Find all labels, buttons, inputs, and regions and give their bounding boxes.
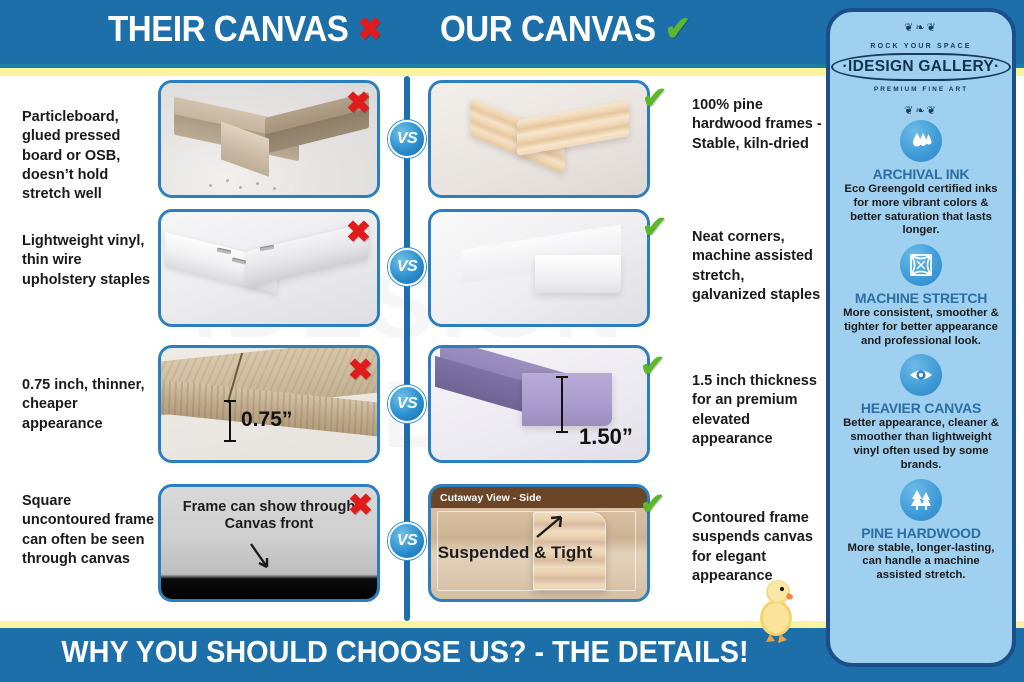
row-3-left-label: 0.75 inch, thinner, cheaper appearance: [22, 376, 157, 434]
cutaway-view-label-text: Cutaway View - Side: [431, 492, 541, 504]
logo-flourish-bottom-icon: ❦❧❦: [837, 104, 1005, 117]
our-canvas-header: OUR CANVAS ✔: [440, 8, 691, 50]
neat-machine-stretched-corner-photo: [431, 212, 647, 324]
duckling-mascot: [752, 572, 800, 644]
feature-pine-hardwood-desc: More stable, longer-lasting, can handle …: [839, 542, 1003, 583]
row-1-right-card: [428, 80, 650, 198]
vs-badge-row-1: VS: [388, 120, 426, 158]
row-3-left-measure-bar: [229, 400, 231, 442]
osb-board-thickness-photo: [161, 348, 377, 460]
row-4-left-x-icon: ✖: [348, 491, 373, 521]
vinyl-corner-with-wire-staples-photo: [161, 212, 377, 324]
feature-pine-hardwood-title: PINE HARDWOOD: [839, 525, 1003, 541]
row-3-left-card: 0.75” ✖: [158, 345, 380, 463]
footer-tagline: WHY YOU SHOULD CHOOSE US? - THE DETAILS!: [28, 634, 781, 670]
row-1-left-label: Particleboard, glued pressed board or OS…: [22, 108, 157, 204]
feature-pine-hardwood: PINE HARDWOOD More stable, longer-lastin…: [830, 479, 1012, 583]
logo-tagline-bottom: PREMIUM FINE ART: [874, 86, 968, 93]
particleboard-frame-corner-photo: [161, 83, 377, 195]
row-1-left-x-icon: ✖: [346, 89, 371, 119]
feature-archival-ink: ARCHIVAL INK Eco Greengold certified ink…: [830, 120, 1012, 238]
row-4-right-check-icon: ✔: [640, 490, 665, 520]
logo-brand-name: ·IDESIGN GALLERY·: [831, 53, 1012, 81]
row-2-left-card: ✖: [158, 209, 380, 327]
header-x-icon: ✖: [358, 13, 382, 45]
header-check-icon: ✔: [665, 12, 691, 46]
up-right-arrow-icon: [535, 513, 567, 541]
row-1-left-card: ✖: [158, 80, 380, 198]
row-3-left-measure-label: 0.75”: [241, 408, 292, 432]
row-4-left-card: Frame can show through Canvas front ✖: [158, 484, 380, 602]
row-2-left-x-icon: ✖: [346, 218, 371, 248]
brand-logo: ❦❧❦ ROCK YOUR SPACE ·IDESIGN GALLERY· PR…: [837, 22, 1005, 114]
logo-tagline-top: ROCK YOUR SPACE: [870, 43, 971, 50]
row-3-left-x-icon: ✖: [348, 356, 373, 386]
eye-icon: [900, 354, 942, 396]
row-2-right-label: Neat corners, machine assisted stretch, …: [692, 228, 822, 305]
row-4-right-card: Cutaway View - Side Suspended & Tight: [428, 484, 650, 602]
feature-heavier-canvas-title: HEAVIER CANVAS: [839, 400, 1003, 416]
logo-flourish-top-icon: ❦❧❦: [837, 21, 1005, 34]
row-4-right-overlay-text: Suspended & Tight: [428, 543, 623, 563]
feature-machine-stretch-title: MACHINE STRETCH: [839, 290, 1003, 306]
row-3-right-card: 1.50”: [428, 345, 650, 463]
brand-sidebar: ❦❧❦ ROCK YOUR SPACE ·IDESIGN GALLERY· PR…: [826, 8, 1016, 667]
pine-trees-icon: [900, 479, 942, 521]
vs-badge-row-4: VS: [388, 522, 426, 560]
stretched-canvas-icon: [900, 244, 942, 286]
row-3-right-measure-bar: [561, 376, 563, 433]
vs-badge-row-2: VS: [388, 248, 426, 286]
our-canvas-title: OUR CANVAS: [440, 8, 656, 50]
cutaway-view-label: Cutaway View - Side: [431, 487, 647, 508]
down-right-arrow-icon: [247, 541, 277, 573]
row-2-left-label: Lightweight vinyl, thin wire upholstery …: [22, 232, 157, 290]
row-4-left-label: Square uncontoured frame can often be se…: [22, 492, 157, 569]
row-4-left-overlay-text: Frame can show through Canvas front: [161, 499, 377, 534]
row-1-right-check-icon: ✔: [642, 84, 667, 114]
feature-machine-stretch-desc: More consistent, smoother & tighter for …: [839, 307, 1003, 348]
row-3-right-check-icon: ✔: [640, 352, 665, 382]
infographic-root: THEIR CANVAS ✖ OUR CANVAS ✔ IDESIGN GALL…: [0, 0, 1024, 682]
row-3-right-measure-label: 1.50”: [579, 424, 633, 450]
row-3-right-label: 1.5 inch thickness for an premium elevat…: [692, 372, 822, 449]
pine-hardwood-frame-corner-photo: [431, 83, 647, 195]
their-canvas-title: THEIR CANVAS: [108, 8, 348, 50]
feature-heavier-canvas: HEAVIER CANVAS Better appearance, cleane…: [830, 354, 1012, 472]
feature-heavier-canvas-desc: Better appearance, cleaner & smoother th…: [839, 417, 1003, 472]
feature-machine-stretch: MACHINE STRETCH More consistent, smoothe…: [830, 244, 1012, 348]
row-2-right-check-icon: ✔: [642, 213, 667, 243]
row-2-right-card: [428, 209, 650, 327]
feature-archival-ink-title: ARCHIVAL INK: [839, 166, 1003, 182]
their-canvas-header: THEIR CANVAS ✖: [108, 8, 382, 50]
vs-badge-row-3: VS: [388, 385, 426, 423]
water-drops-icon: [900, 120, 942, 162]
row-1-right-label: 100% pine hardwood frames - Stable, kiln…: [692, 96, 822, 154]
feature-archival-ink-desc: Eco Greengold certified inks for more vi…: [839, 183, 1003, 238]
